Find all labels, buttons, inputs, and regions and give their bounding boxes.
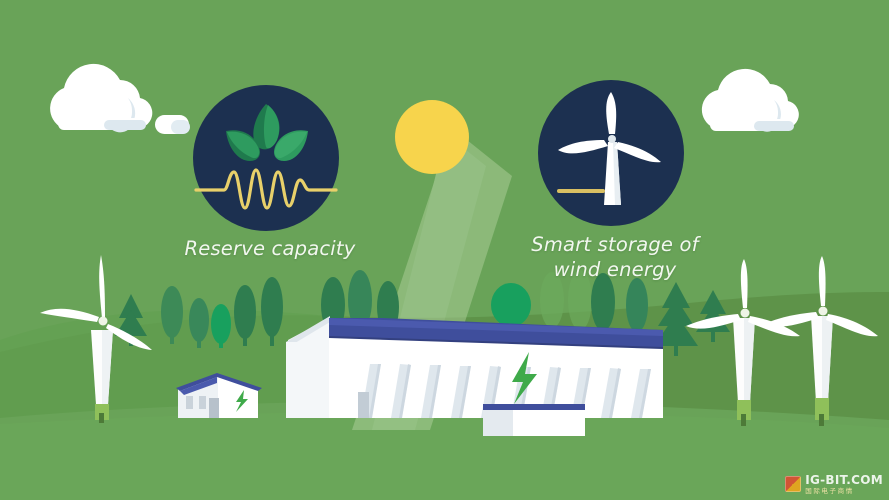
watermark-sub: 国际电子商情 bbox=[805, 488, 883, 495]
label-smart-storage: Smart storage of wind energy bbox=[515, 232, 715, 282]
watermark: IG-BIT.COM 国际电子商情 bbox=[785, 474, 883, 495]
watermark-logo-icon bbox=[785, 476, 801, 492]
watermark-text: IG-BIT.COM 国际电子商情 bbox=[805, 474, 883, 495]
illustration-canvas: Reserve capacity Smart storage of wind e… bbox=[0, 0, 889, 500]
wind-turbine-icon[interactable] bbox=[0, 0, 889, 500]
label-reserve-capacity: Reserve capacity bbox=[170, 236, 370, 261]
gold-bar bbox=[557, 189, 605, 193]
turbine-hub bbox=[608, 135, 616, 143]
watermark-main: IG-BIT.COM bbox=[805, 474, 883, 486]
